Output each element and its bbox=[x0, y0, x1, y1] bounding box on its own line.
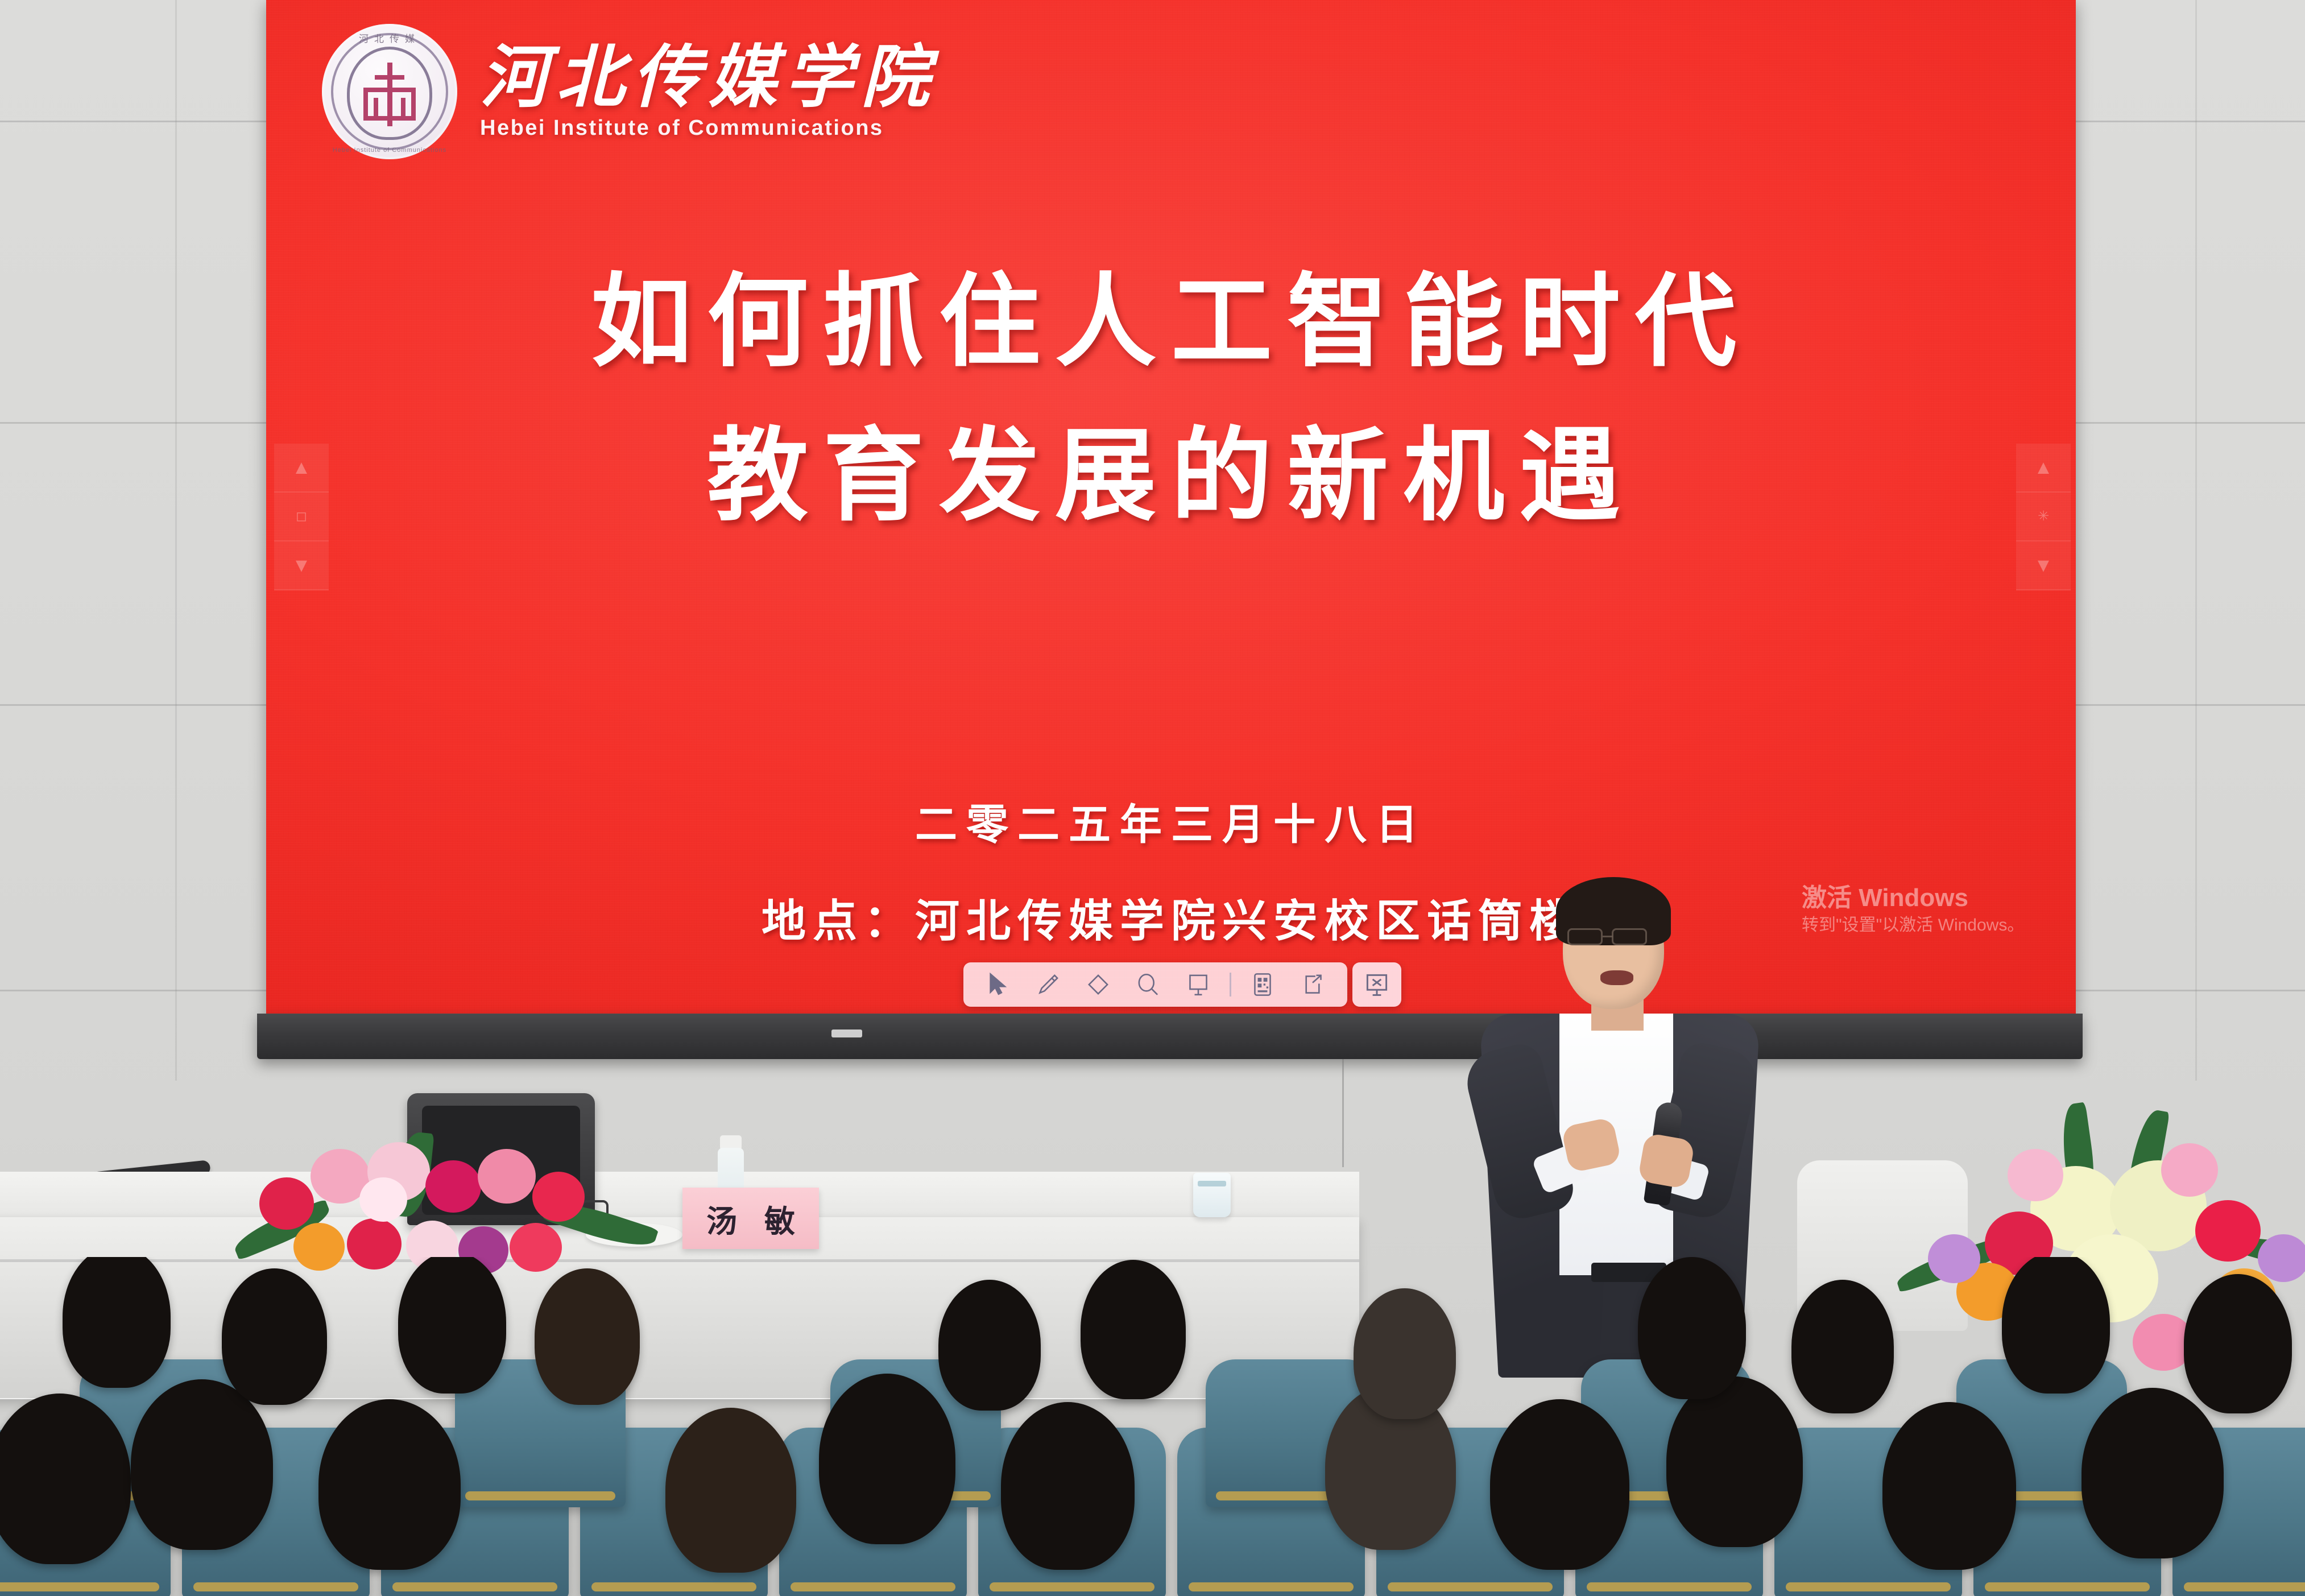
wall-panel-line bbox=[2195, 0, 2197, 1081]
institution-name-en: Hebei Institute of Communications bbox=[480, 116, 937, 140]
seal-bottom-text: Hebei Institute of Communications bbox=[322, 147, 457, 154]
slide-meta: 二零二五年三月十八日 地点：河北传媒学院兴安校区话筒楼 bbox=[266, 791, 2076, 949]
audience-head bbox=[2184, 1274, 2292, 1413]
screen-bottom-bezel bbox=[257, 1014, 2083, 1059]
presentation-toolbar[interactable] bbox=[963, 962, 1347, 1007]
audience-head bbox=[938, 1280, 1041, 1411]
audience-head bbox=[1081, 1260, 1186, 1399]
audience-head bbox=[1666, 1376, 1803, 1547]
audience-head bbox=[2081, 1388, 2224, 1558]
eraser-icon[interactable] bbox=[1076, 967, 1120, 1002]
institution-logo-lockup: 河北传媒 Hebei Institute of Communications 河… bbox=[322, 24, 937, 159]
chevron-down-icon[interactable]: ▼ bbox=[274, 541, 329, 590]
audience-head bbox=[398, 1257, 506, 1394]
presenter-glasses bbox=[1567, 928, 1663, 948]
slide-location: 地点：河北传媒学院兴安校区话筒楼 bbox=[266, 886, 2076, 949]
audience-area bbox=[0, 1257, 2305, 1596]
hanging-cable bbox=[1342, 1059, 1344, 1167]
bezel-indicator-led bbox=[831, 1029, 862, 1037]
pen-icon[interactable] bbox=[1026, 967, 1070, 1002]
audience-head bbox=[1791, 1280, 1894, 1413]
logo-text-block: 河北传媒学院 Hebei Institute of Communications bbox=[480, 43, 937, 140]
audience-head bbox=[1882, 1402, 2016, 1570]
audience-head bbox=[535, 1268, 640, 1405]
screen-edge-panel-left[interactable]: ▲ ◻ ▼ bbox=[274, 444, 329, 590]
cursor-arrow-icon[interactable] bbox=[976, 967, 1020, 1002]
name-card: 汤 敏 bbox=[682, 1188, 819, 1249]
auditorium-photo-scene: 河北传媒 Hebei Institute of Communications 河… bbox=[0, 0, 2305, 1596]
wall-panel-line bbox=[175, 0, 177, 1081]
chevron-down-icon[interactable]: ▼ bbox=[2016, 541, 2071, 590]
screen-edge-panel-right[interactable]: ▲ ✳ ▼ bbox=[2016, 444, 2071, 590]
screen-close-icon[interactable] bbox=[1352, 962, 1401, 1007]
audience-head bbox=[1354, 1288, 1456, 1419]
chevron-up-icon[interactable]: ▲ bbox=[274, 444, 329, 493]
chevron-up-icon[interactable]: ▲ bbox=[2016, 444, 2071, 493]
audience-head bbox=[819, 1374, 955, 1544]
slide-title-line-1: 如何抓住人工智能时代 bbox=[266, 245, 2076, 399]
qr-code-icon[interactable] bbox=[1240, 967, 1285, 1002]
institution-name-cn: 河北传媒学院 bbox=[480, 43, 937, 112]
name-card-char-1: 汤 bbox=[706, 1196, 737, 1241]
toolbar-divider bbox=[1230, 973, 1231, 997]
audience-head bbox=[1490, 1399, 1629, 1570]
name-card-char-2: 敏 bbox=[764, 1196, 795, 1241]
head-table-riser bbox=[0, 1172, 1359, 1221]
share-export-icon[interactable] bbox=[1290, 967, 1335, 1002]
slide-date: 二零二五年三月十八日 bbox=[266, 791, 2076, 851]
university-seal-icon: 河北传媒 Hebei Institute of Communications bbox=[322, 24, 457, 159]
audience-head bbox=[318, 1399, 461, 1570]
audience-head bbox=[1001, 1402, 1135, 1570]
audience-head bbox=[131, 1379, 273, 1550]
presenter-hand-right bbox=[1637, 1132, 1695, 1189]
magnifier-icon[interactable] bbox=[1126, 967, 1170, 1002]
audience-head bbox=[63, 1257, 171, 1388]
slide-title-line-2: 教育发展的新机遇 bbox=[266, 399, 2076, 553]
whiteboard-icon[interactable] bbox=[1176, 967, 1220, 1002]
presenter-mouth bbox=[1600, 970, 1633, 985]
seal-emblem-glyph bbox=[359, 63, 420, 126]
slide-title: 如何抓住人工智能时代 教育发展的新机遇 bbox=[266, 245, 2076, 552]
square-icon[interactable]: ◻ bbox=[274, 493, 329, 541]
audience-head bbox=[222, 1268, 327, 1405]
square-icon[interactable]: ✳ bbox=[2016, 493, 2071, 541]
seal-top-chars: 河北传媒 bbox=[322, 31, 457, 45]
audience-head bbox=[1638, 1257, 1746, 1399]
audience-head bbox=[2002, 1257, 2110, 1394]
audience-head bbox=[665, 1408, 796, 1573]
tea-cup bbox=[1193, 1173, 1231, 1217]
